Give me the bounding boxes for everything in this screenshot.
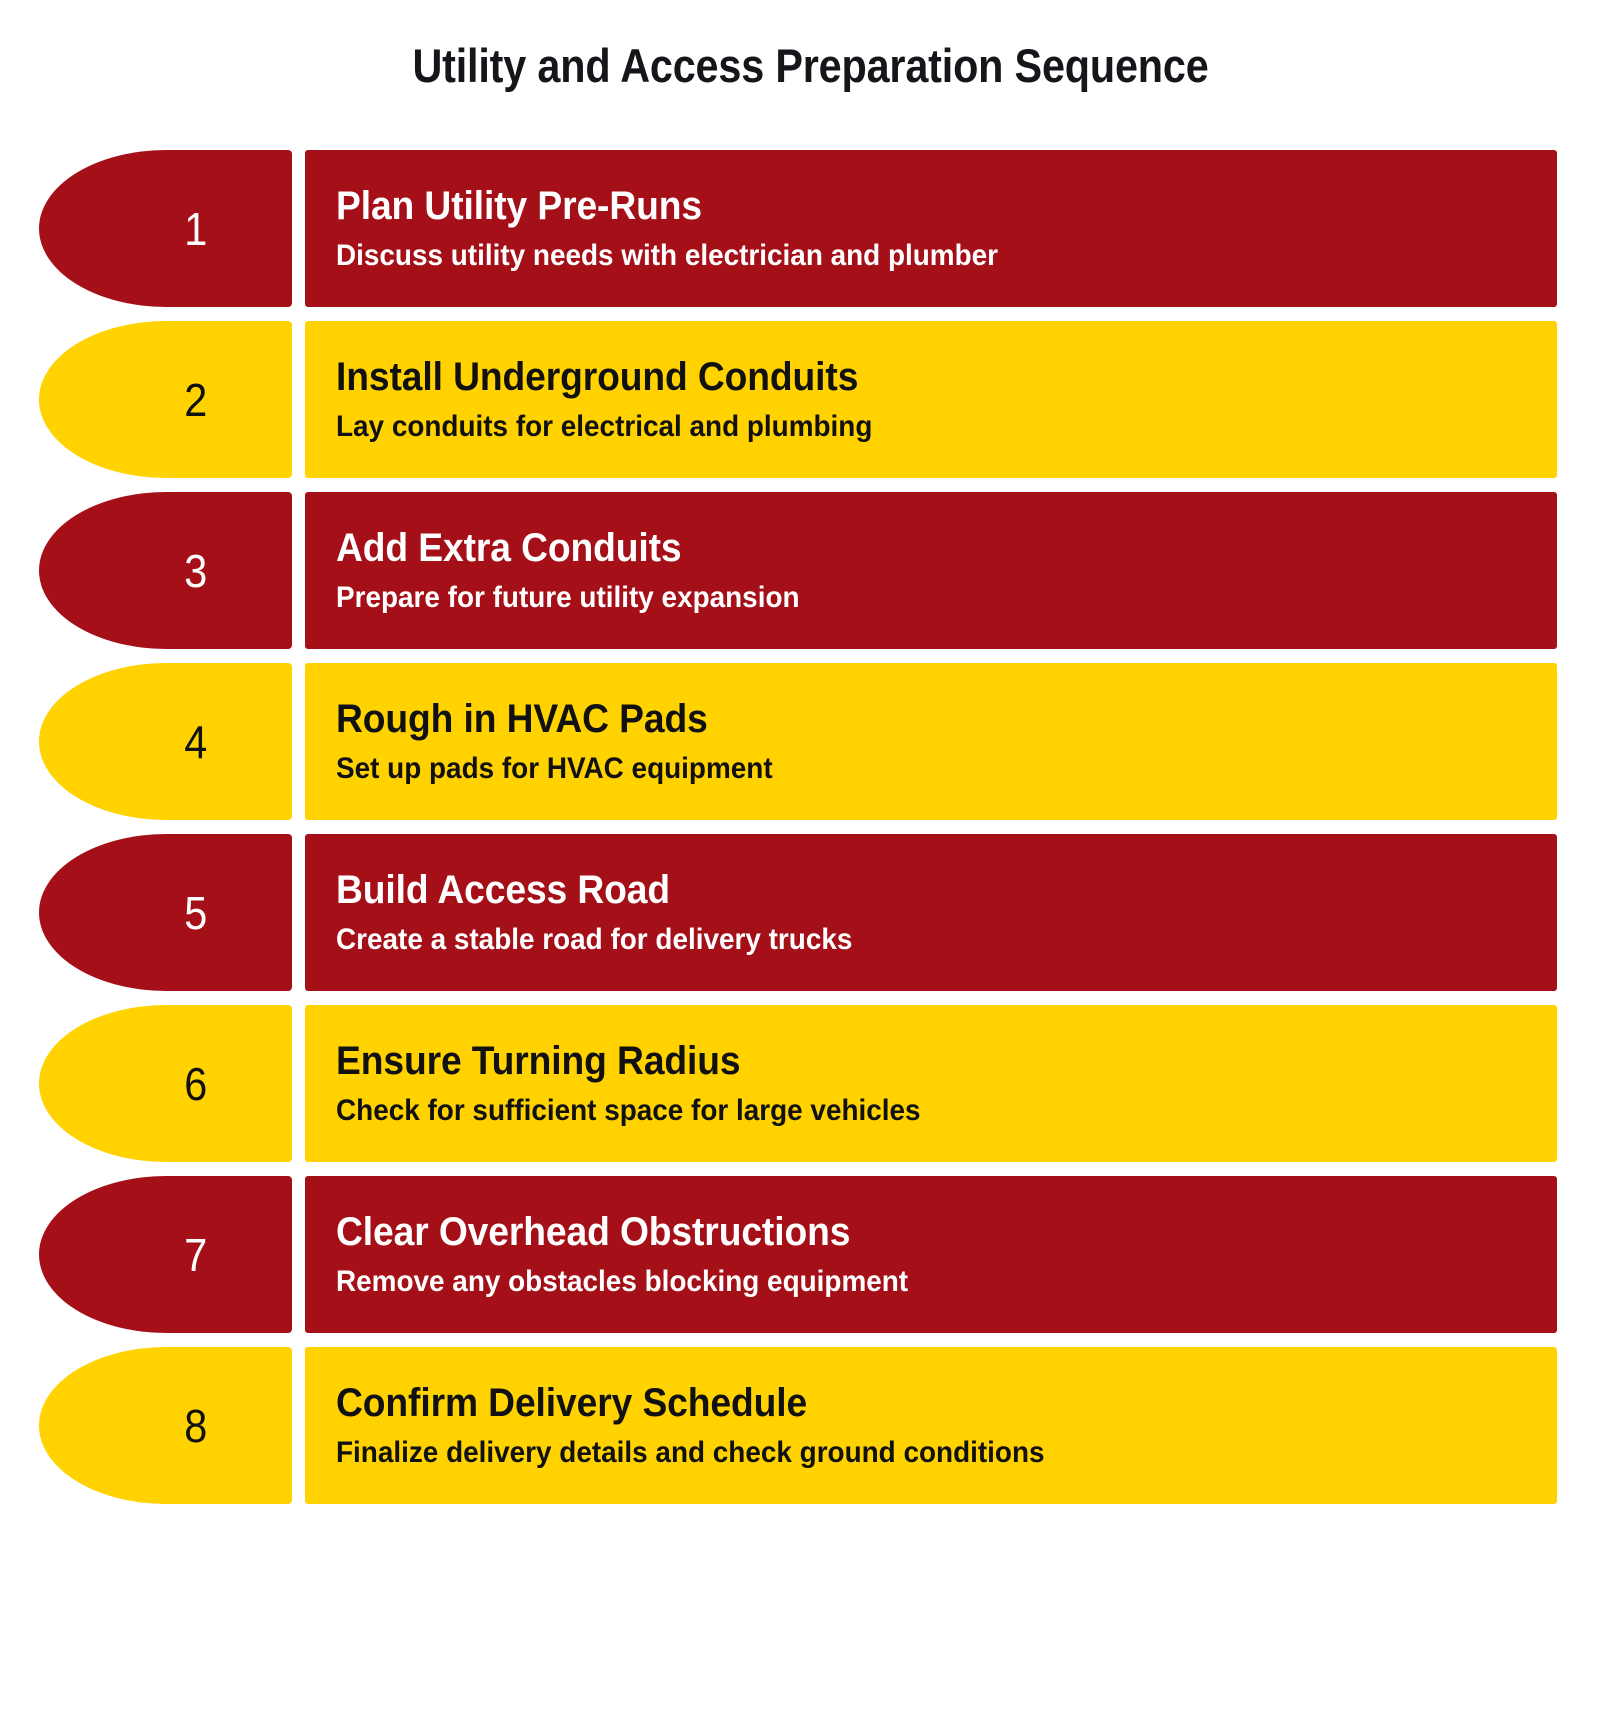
step-number-badge-3[interactable]: 3: [39, 492, 292, 649]
step-description: Finalize delivery details and check grou…: [336, 1437, 1472, 1469]
infographic-canvas: Utility and Access Preparation Sequence …: [0, 0, 1621, 1718]
step-number-badge-8[interactable]: 8: [39, 1347, 292, 1504]
step-row-5[interactable]: 5 Build Access Road Create a stable road…: [0, 834, 1621, 991]
step-content-bar-2[interactable]: Install Underground Conduits Lay conduit…: [305, 321, 1557, 478]
step-list: 1 Plan Utility Pre-Runs Discuss utility …: [0, 150, 1621, 1518]
step-title: Install Underground Conduits: [336, 356, 1472, 398]
step-row-1[interactable]: 1 Plan Utility Pre-Runs Discuss utility …: [0, 150, 1621, 307]
step-content-bar-3[interactable]: Add Extra Conduits Prepare for future ut…: [305, 492, 1557, 649]
step-description: Prepare for future utility expansion: [336, 582, 1472, 614]
step-number-label: 3: [184, 548, 207, 594]
step-number-badge-1[interactable]: 1: [39, 150, 292, 307]
step-description: Discuss utility needs with electrician a…: [336, 240, 1472, 272]
page-title: Utility and Access Preparation Sequence: [97, 38, 1523, 93]
step-title: Clear Overhead Obstructions: [336, 1211, 1472, 1253]
step-number-badge-2[interactable]: 2: [39, 321, 292, 478]
step-description: Remove any obstacles blocking equipment: [336, 1266, 1472, 1298]
step-number-badge-7[interactable]: 7: [39, 1176, 292, 1333]
step-title: Confirm Delivery Schedule: [336, 1382, 1472, 1424]
step-title: Ensure Turning Radius: [336, 1040, 1472, 1082]
step-number-label: 1: [184, 206, 207, 252]
step-description: Check for sufficient space for large veh…: [336, 1095, 1472, 1127]
step-number-label: 8: [184, 1403, 207, 1449]
step-title: Build Access Road: [336, 869, 1472, 911]
step-row-6[interactable]: 6 Ensure Turning Radius Check for suffic…: [0, 1005, 1621, 1162]
step-number-label: 7: [184, 1232, 207, 1278]
step-number-label: 5: [184, 890, 207, 936]
step-row-3[interactable]: 3 Add Extra Conduits Prepare for future …: [0, 492, 1621, 649]
step-number-label: 4: [184, 719, 207, 765]
step-content-bar-6[interactable]: Ensure Turning Radius Check for sufficie…: [305, 1005, 1557, 1162]
step-number-badge-4[interactable]: 4: [39, 663, 292, 820]
step-number-label: 2: [184, 377, 207, 423]
step-row-4[interactable]: 4 Rough in HVAC Pads Set up pads for HVA…: [0, 663, 1621, 820]
step-description: Lay conduits for electrical and plumbing: [336, 411, 1472, 443]
step-content-bar-4[interactable]: Rough in HVAC Pads Set up pads for HVAC …: [305, 663, 1557, 820]
step-content-bar-7[interactable]: Clear Overhead Obstructions Remove any o…: [305, 1176, 1557, 1333]
step-description: Create a stable road for delivery trucks: [336, 924, 1472, 956]
step-content-bar-5[interactable]: Build Access Road Create a stable road f…: [305, 834, 1557, 991]
step-row-7[interactable]: 7 Clear Overhead Obstructions Remove any…: [0, 1176, 1621, 1333]
step-content-bar-8[interactable]: Confirm Delivery Schedule Finalize deliv…: [305, 1347, 1557, 1504]
step-row-8[interactable]: 8 Confirm Delivery Schedule Finalize del…: [0, 1347, 1621, 1504]
step-description: Set up pads for HVAC equipment: [336, 753, 1472, 785]
step-title: Rough in HVAC Pads: [336, 698, 1472, 740]
step-title: Add Extra Conduits: [336, 527, 1472, 569]
step-number-label: 6: [184, 1061, 207, 1107]
step-title: Plan Utility Pre-Runs: [336, 185, 1472, 227]
step-number-badge-6[interactable]: 6: [39, 1005, 292, 1162]
step-row-2[interactable]: 2 Install Underground Conduits Lay condu…: [0, 321, 1621, 478]
step-number-badge-5[interactable]: 5: [39, 834, 292, 991]
step-content-bar-1[interactable]: Plan Utility Pre-Runs Discuss utility ne…: [305, 150, 1557, 307]
